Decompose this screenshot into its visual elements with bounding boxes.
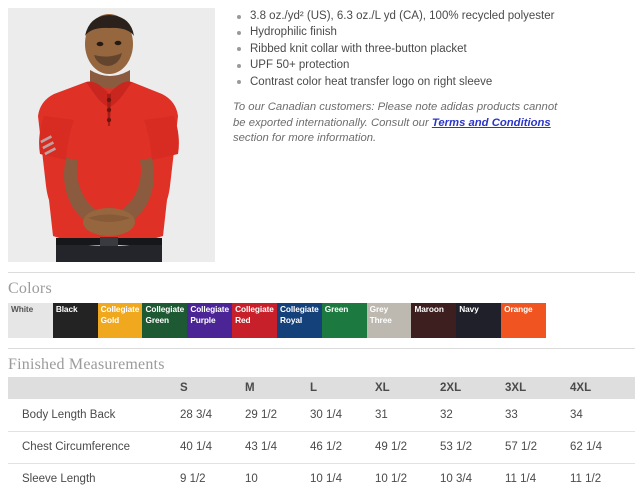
table-row: Chest Circumference 40 1/4 43 1/4 46 1/2… [8, 431, 635, 463]
table-row: Body Length Back 28 3/4 29 1/2 30 1/4 31… [8, 399, 635, 431]
list-item: Ribbed knit collar with three-button pla… [233, 41, 635, 57]
cell-value: 57 1/2 [505, 431, 570, 463]
row-label: Chest Circumference [8, 431, 180, 463]
column-header-m: M [245, 377, 310, 399]
color-swatch-navy[interactable]: Navy [456, 303, 501, 338]
swatch-label: Maroon [414, 304, 455, 315]
table-header-row: S M L XL 2XL 3XL 4XL [8, 377, 635, 399]
column-header-l: L [310, 377, 375, 399]
swatch-label: Orange [504, 304, 545, 315]
product-spec-block: 3.8 oz./yd² (US), 6.3 oz./L yd (CA), 100… [233, 8, 635, 158]
swatch-label: Navy [459, 304, 500, 315]
spec-text: 3.8 oz./yd² (US), 6.3 oz./L yd (CA), 100… [250, 10, 554, 22]
swatch-label: Collegiate Green [145, 304, 186, 325]
cell-value: 53 1/2 [440, 431, 505, 463]
color-swatch-black[interactable]: Black [53, 303, 98, 338]
swatch-label: Collegiate Red [235, 304, 276, 325]
bullet-icon [237, 47, 241, 51]
cell-value: 31 [375, 399, 440, 431]
cell-value: 11 1/4 [505, 463, 570, 492]
cell-value: 46 1/2 [310, 431, 375, 463]
swatch-label: Black [56, 304, 97, 315]
cell-value: 10 [245, 463, 310, 492]
color-swatch-collegiate-purple[interactable]: Collegiate Purple [187, 303, 232, 338]
color-swatch-collegiate-red[interactable]: Collegiate Red [232, 303, 277, 338]
cell-value: 32 [440, 399, 505, 431]
column-header-2xl: 2XL [440, 377, 505, 399]
bullet-icon [237, 15, 241, 19]
terms-and-conditions-link[interactable]: Terms and Conditions [432, 117, 551, 129]
table-row: Sleeve Length 9 1/2 10 10 1/4 10 1/2 10 … [8, 463, 635, 492]
bullet-icon [237, 64, 241, 68]
product-photo[interactable] [8, 8, 215, 262]
color-swatch-orange[interactable]: Orange [501, 303, 546, 338]
swatch-label: Collegiate Purple [190, 304, 231, 325]
column-header-3xl: 3XL [505, 377, 570, 399]
list-item: Hydrophilic finish [233, 24, 635, 40]
cell-value: 34 [570, 399, 635, 431]
cell-value: 62 1/4 [570, 431, 635, 463]
spec-text: Ribbed knit collar with three-button pla… [250, 43, 467, 55]
list-item: 3.8 oz./yd² (US), 6.3 oz./L yd (CA), 100… [233, 8, 635, 24]
swatch-label: White [11, 304, 52, 315]
cell-value: 49 1/2 [375, 431, 440, 463]
product-photo-image [8, 8, 215, 262]
cell-value: 10 1/2 [375, 463, 440, 492]
finished-measurements-table: S M L XL 2XL 3XL 4XL Body Length Back 28… [8, 377, 635, 492]
cell-value: 9 1/2 [180, 463, 245, 492]
cell-value: 29 1/2 [245, 399, 310, 431]
spec-text: Hydrophilic finish [250, 26, 337, 38]
column-header-4xl: 4XL [570, 377, 635, 399]
spec-text: Contrast color heat transfer logo on rig… [250, 76, 492, 88]
column-header-s: S [180, 377, 245, 399]
swatch-label: Collegiate Gold [101, 304, 142, 325]
list-item: Contrast color heat transfer logo on rig… [233, 74, 635, 90]
color-swatch-white[interactable]: White [8, 303, 53, 338]
color-swatch-green[interactable]: Green [322, 303, 367, 338]
row-label: Body Length Back [8, 399, 180, 431]
spec-text: UPF 50+ protection [250, 59, 349, 71]
colors-divider [8, 272, 635, 273]
measurements-divider [8, 348, 635, 349]
swatch-label: Grey Three [370, 304, 411, 325]
swatch-label: Green [325, 304, 366, 315]
column-header-xl: XL [375, 377, 440, 399]
cell-value: 11 1/2 [570, 463, 635, 492]
bullet-icon [237, 31, 241, 35]
spec-bullet-list: 3.8 oz./yd² (US), 6.3 oz./L yd (CA), 100… [233, 8, 635, 90]
column-header-blank [8, 377, 180, 399]
colors-section-title: Colors [8, 280, 52, 298]
product-overview-area: 3.8 oz./yd² (US), 6.3 oz./L yd (CA), 100… [0, 0, 643, 272]
cell-value: 28 3/4 [180, 399, 245, 431]
color-swatch-collegiate-royal[interactable]: Collegiate Royal [277, 303, 322, 338]
cell-value: 40 1/4 [180, 431, 245, 463]
canada-export-note: To our Canadian customers: Please note a… [233, 100, 563, 147]
cell-value: 33 [505, 399, 570, 431]
bullet-icon [237, 80, 241, 84]
cell-value: 43 1/4 [245, 431, 310, 463]
color-swatch-maroon[interactable]: Maroon [411, 303, 456, 338]
cell-value: 10 3/4 [440, 463, 505, 492]
cell-value: 10 1/4 [310, 463, 375, 492]
color-swatch-row: White Black Collegiate Gold Collegiate G… [8, 303, 546, 338]
color-swatch-collegiate-green[interactable]: Collegiate Green [142, 303, 187, 338]
measurements-section-title: Finished Measurements [8, 356, 165, 374]
color-swatch-collegiate-gold[interactable]: Collegiate Gold [98, 303, 143, 338]
list-item: UPF 50+ protection [233, 57, 635, 73]
swatch-label: Collegiate Royal [280, 304, 321, 325]
row-label: Sleeve Length [8, 463, 180, 492]
color-swatch-grey-three[interactable]: Grey Three [367, 303, 412, 338]
cell-value: 30 1/4 [310, 399, 375, 431]
canada-note-after: section for more information. [233, 132, 376, 144]
product-detail-page: 3.8 oz./yd² (US), 6.3 oz./L yd (CA), 100… [0, 0, 643, 492]
